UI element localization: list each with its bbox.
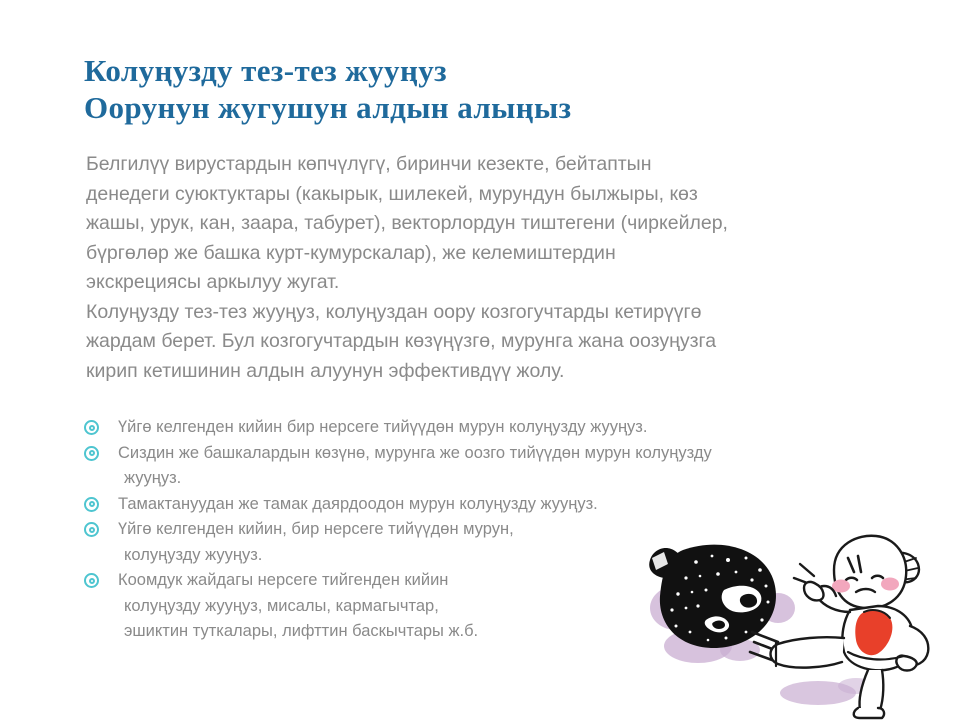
slide-canvas: Колуңузду тез-тез жууңуз Оорунун жугушун…: [0, 0, 960, 720]
germ-character: [649, 545, 776, 648]
list-item: Сиздин же башкалардын көзүнө, мурунга же…: [84, 441, 914, 492]
list-item-line: Сиздин же башкалардын көзүнө, мурунга же…: [118, 441, 914, 467]
body-line: денедеги суюктуктары (какырык, шилекей, …: [86, 180, 906, 210]
double-circle-bullet-icon: [84, 441, 106, 464]
body-line: кирип кетишинин алдын алуунун эффективдү…: [86, 357, 906, 387]
list-item-line: жууңуз.: [118, 466, 914, 492]
body-line: Колуңузду тез-тез жууңуз, колуңуздан оор…: [86, 298, 906, 328]
list-item-line: Үйгө келгенден кийин бир нерсеге тийүүдө…: [118, 415, 914, 441]
body-line: Белгилүү вирустардын көпчүлүгү, биринчи …: [86, 150, 906, 180]
body-line: бүргөлөр же башка курт-кумурскалар), же …: [86, 239, 906, 269]
body-line: жардам берет. Бул козгогучтардын көзүңүз…: [86, 327, 906, 357]
page-title: Колуңузду тез-тез жууңуз Оорунун жугушун…: [84, 52, 884, 126]
title-line-2: Оорунун жугушун алдын алыңыз: [84, 89, 884, 126]
child-kicking-germ-illustration: [628, 528, 958, 720]
double-circle-bullet-icon: [84, 415, 106, 438]
list-item: Үйгө келгенден кийин бир нерсеге тийүүдө…: [84, 415, 914, 441]
body-line: жашы, урук, кан, заара, табурет), вектор…: [86, 209, 906, 239]
body-paragraphs: Белгилүү вирустардын көпчүлүгү, биринчи …: [86, 150, 906, 386]
title-line-1: Колуңузду тез-тез жууңуз: [84, 52, 884, 89]
list-item-line: Тамактануудан же тамак даярдоодон мурун …: [118, 492, 914, 518]
double-circle-bullet-icon: [84, 568, 106, 591]
double-circle-bullet-icon: [84, 492, 106, 515]
body-line: экскрециясы аркылуу жугат.: [86, 268, 906, 298]
double-circle-bullet-icon: [84, 517, 106, 540]
list-item: Тамактануудан же тамак даярдоодон мурун …: [84, 492, 914, 518]
